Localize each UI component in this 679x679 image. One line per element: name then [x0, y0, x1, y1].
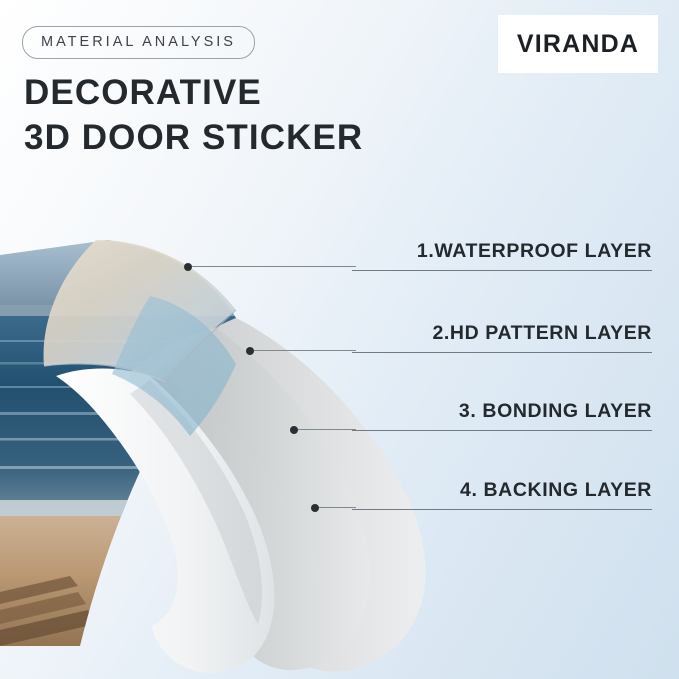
callout-backing-layer: 4. BACKING LAYER [352, 479, 652, 510]
peel-illustration-svg [0, 200, 470, 679]
leader-line-1 [192, 266, 356, 267]
leader-line-2 [254, 350, 356, 351]
leader-dot-2 [246, 347, 254, 355]
callout-hd-pattern-layer: 2.HD PATTERN LAYER [352, 322, 652, 353]
peel-illustration [0, 200, 470, 679]
callout-bonding-layer: 3. BONDING LAYER [352, 400, 652, 431]
poster-root: MATERIAL ANALYSIS DECORATIVE 3D DOOR STI… [0, 0, 679, 679]
callout-waterproof-layer: 1.WATERPROOF LAYER [352, 240, 652, 271]
leader-line-3 [298, 429, 356, 430]
title-line-2: 3D DOOR STICKER [24, 115, 363, 160]
leader-dot-4 [311, 504, 319, 512]
leader-dot-1 [184, 263, 192, 271]
title-line-1: DECORATIVE [24, 70, 363, 115]
eyebrow-badge: MATERIAL ANALYSIS [22, 26, 255, 59]
leader-dot-3 [290, 426, 298, 434]
brand-name: VIRANDA [517, 30, 639, 59]
brand-logo-box: VIRANDA [498, 15, 658, 73]
leader-line-4 [319, 507, 356, 508]
page-title: DECORATIVE 3D DOOR STICKER [24, 70, 363, 160]
